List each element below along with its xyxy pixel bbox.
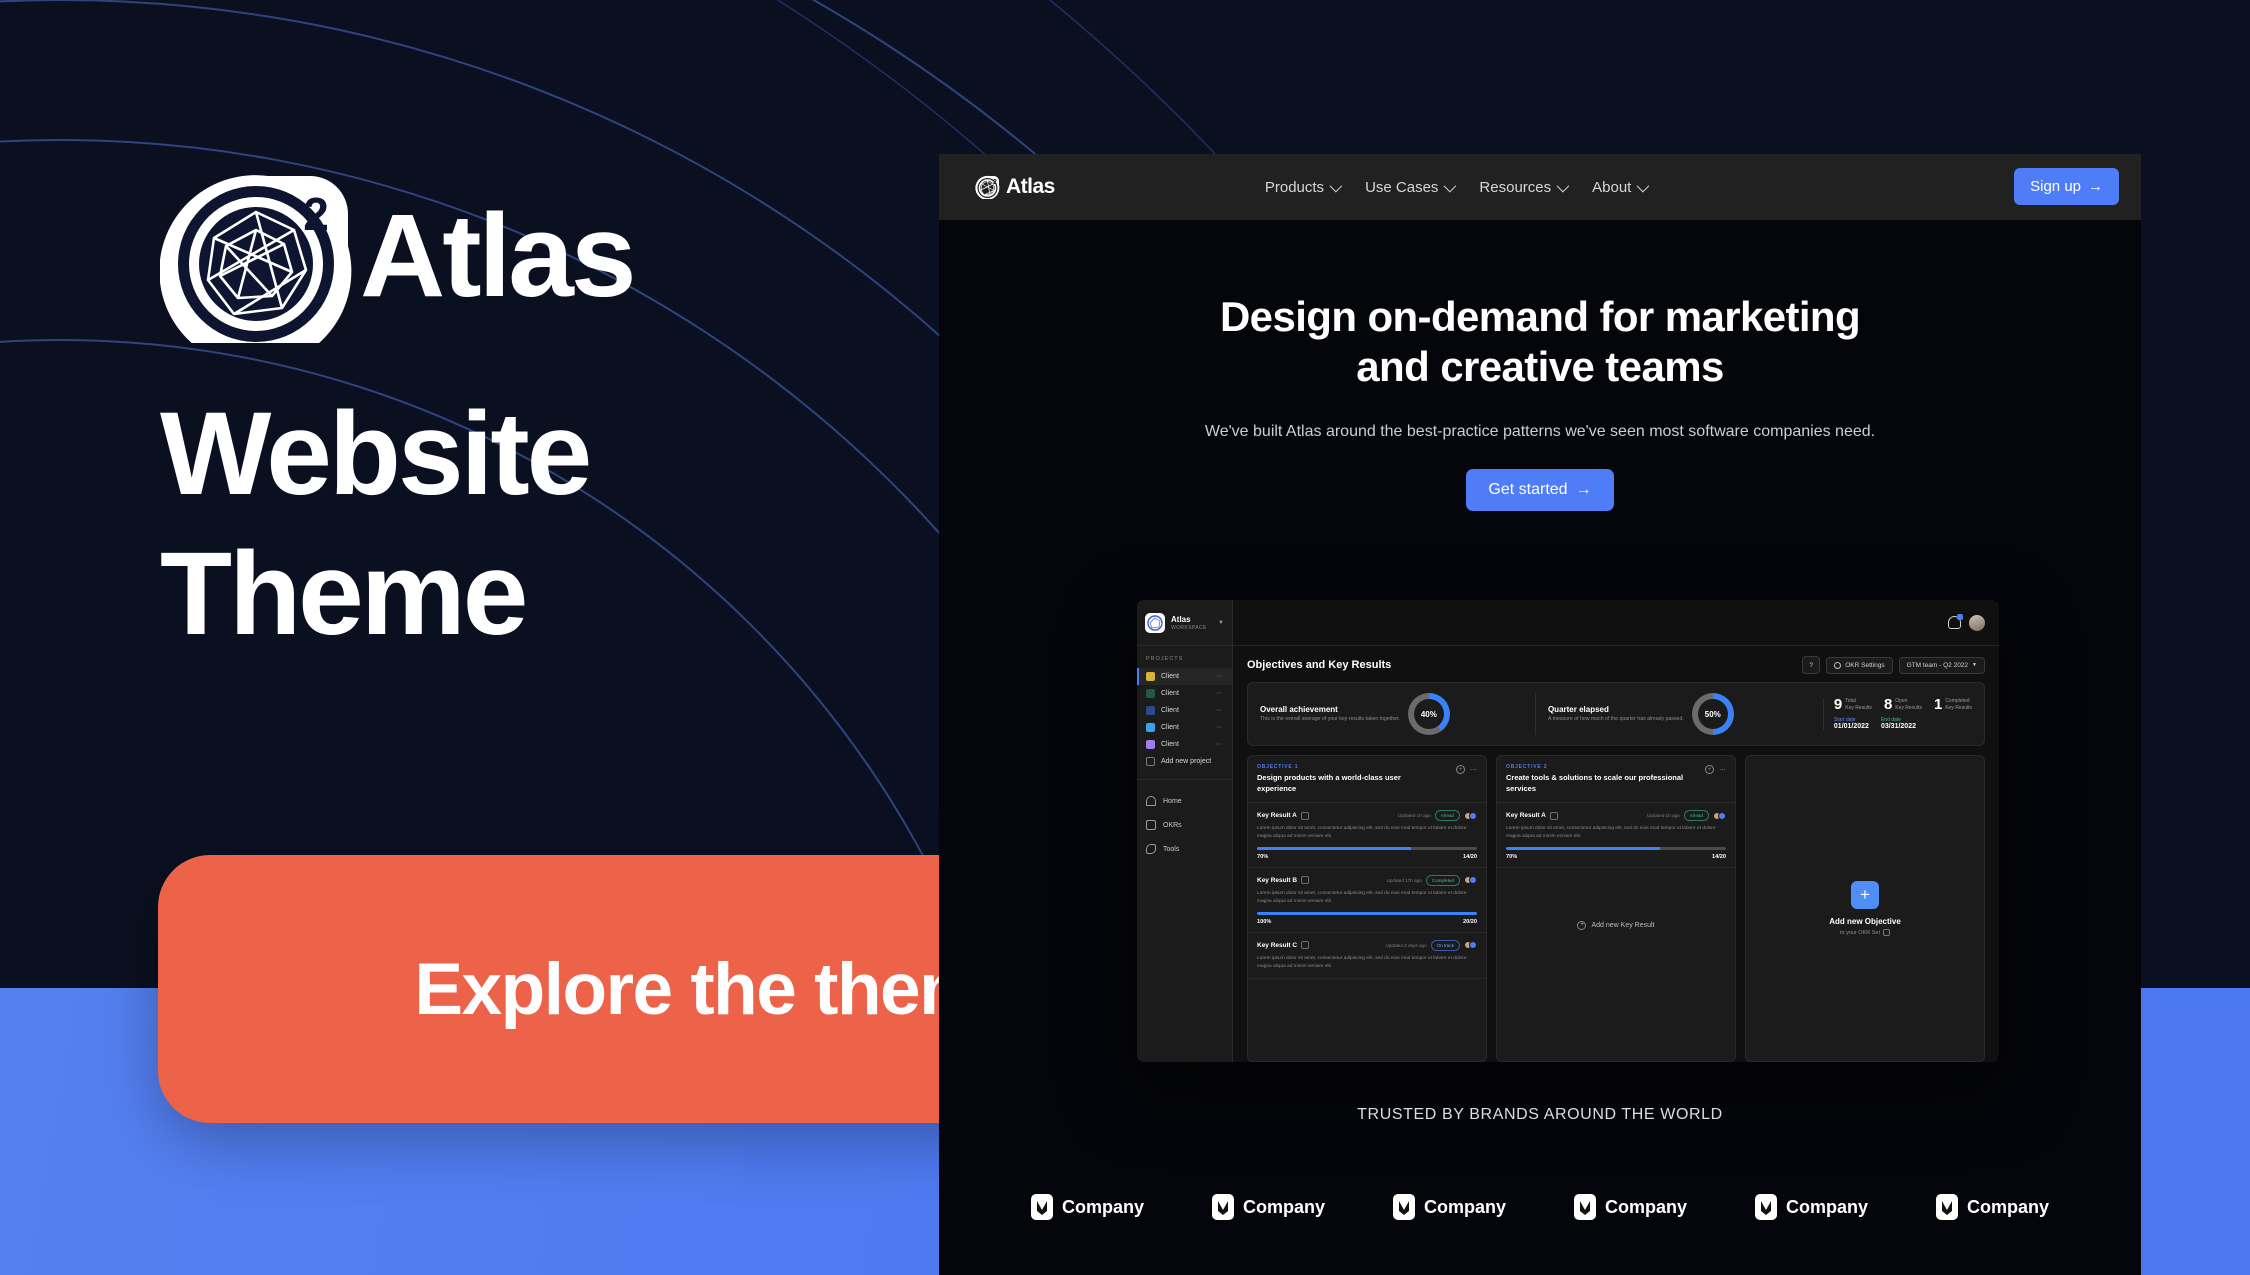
add-objective-title: Add new Objective (1829, 917, 1901, 926)
progress-ratio: 14/20 (1463, 854, 1477, 860)
key-result-row[interactable]: Key Result A Updated 1h ago Ahead Lorem … (1248, 803, 1486, 868)
sign-up-button[interactable]: Sign up → (2014, 168, 2119, 205)
home-icon (1146, 796, 1156, 806)
company-logo-3: Company (1393, 1194, 1506, 1220)
headline-line-1: Website (160, 395, 589, 513)
company-label: Company (1967, 1197, 2049, 1218)
start-date: Start date 01/01/2022 (1834, 717, 1869, 730)
objective-header: OBJECTIVE 2 Create tools & solutions to … (1497, 756, 1735, 803)
okr-toolbar: ? OKR Settings GTM team - Q2 2022 ▼ (1802, 656, 1985, 674)
progress-ratio: 14/20 (1712, 854, 1726, 860)
stat-description: A measure of how much of the quarter has… (1548, 716, 1684, 724)
company-logo-1: Company (1031, 1194, 1144, 1220)
nav-label: OKRs (1163, 822, 1182, 829)
add-objective-sub-label: to your OKR Set (1840, 930, 1880, 936)
donut-value: 50% (1698, 699, 1728, 729)
avatar-group (1713, 812, 1726, 820)
avatar-group (1464, 876, 1477, 884)
more-options-icon[interactable]: ⋯ (1216, 741, 1223, 748)
plus-icon (1146, 757, 1155, 766)
quarter-donut-chart: 50% (1692, 693, 1734, 735)
okr-page-title: Objectives and Key Results (1247, 659, 1391, 671)
stat-overall-achievement: Overall achievement This is the overall … (1260, 693, 1525, 735)
sidebar-item-client-1[interactable]: Client ⋯ (1137, 668, 1232, 685)
nav-label: Resources (1479, 179, 1551, 196)
add-icon: + (1577, 921, 1586, 930)
more-options-icon[interactable]: ⋯ (1216, 707, 1223, 714)
more-options-icon[interactable]: ⋯ (1470, 766, 1477, 774)
headline-line-2: Theme (160, 535, 589, 653)
nav-label: Products (1265, 179, 1324, 196)
app-main: Objectives and Key Results ? OKR Setting… (1233, 600, 1999, 1062)
project-label: Client (1161, 673, 1179, 680)
promo-left-column: 2 Atlas Website Theme Explore the theme (0, 0, 960, 1275)
kpi-value: 8 (1884, 698, 1892, 712)
chevron-down-icon[interactable]: ▼ (1218, 620, 1224, 626)
sidebar-item-home[interactable]: Home (1137, 789, 1232, 813)
chevron-down-icon: ▼ (1972, 662, 1977, 668)
avatar-group (1464, 812, 1477, 820)
key-result-text: Lorem ipsum dolor sit amet, consectetur … (1506, 825, 1726, 841)
promo-canvas: 2 Atlas Website Theme Explore the theme (0, 0, 2250, 1275)
company-label: Company (1062, 1197, 1144, 1218)
end-date: End date 03/31/2022 (1881, 717, 1916, 730)
kpi-value: 9 (1834, 698, 1842, 712)
key-result-row[interactable]: Key Result A Updated 1h ago Ahead Lorem … (1497, 803, 1735, 868)
status-badge: On track (1431, 940, 1460, 951)
chevron-down-icon (1637, 179, 1650, 192)
objective-card-1: OBJECTIVE 1 Design products with a world… (1247, 755, 1487, 1062)
atlas-polyhedron-logo-icon: 2 (160, 168, 360, 343)
objective-tag: OBJECTIVE 1 (1257, 764, 1477, 770)
project-color-icon (1146, 689, 1155, 698)
add-objective-subtitle: to your OKR Set (1840, 929, 1890, 936)
add-new-key-result-button[interactable]: + Add new Key Result (1497, 868, 1735, 983)
key-result-updated: Updated 1h ago (1398, 813, 1431, 818)
sidebar-item-client-4[interactable]: Client ⋯ (1137, 719, 1232, 736)
key-result-name: Key Result A (1506, 812, 1546, 819)
sidebar-item-client-5[interactable]: Client ⋯ (1137, 736, 1232, 753)
okr-grid-icon (1146, 820, 1156, 830)
get-started-label: Get started (1488, 481, 1567, 499)
nav-item-use-cases[interactable]: Use Cases (1365, 179, 1453, 196)
kpi-total: 9 TotalKey Results (1834, 698, 1872, 712)
stat-title: Quarter elapsed (1548, 705, 1684, 714)
kpi-label: OpenKey Results (1895, 698, 1922, 712)
site-nav-menu: Products Use Cases Resources About (1265, 179, 1646, 196)
nav-label: Tools (1163, 846, 1179, 853)
avatar-group (1464, 941, 1477, 949)
sidebar-item-okrs[interactable]: OKRs (1137, 813, 1232, 837)
objective-card-2: OBJECTIVE 2 Create tools & solutions to … (1496, 755, 1736, 1062)
plus-glyph: + (1860, 885, 1870, 905)
progress-bar (1506, 847, 1726, 850)
hero-title-line-2: and creative teams (1356, 343, 1723, 390)
company-logo-row: Company Company Company Company Company … (939, 1194, 2141, 1220)
status-badge: Ahead (1435, 810, 1460, 821)
website-preview: 2 Atlas Products Use Cases (939, 154, 2141, 1275)
okr-settings-button[interactable]: OKR Settings (1826, 657, 1892, 674)
status-badge: Completed (1426, 875, 1460, 886)
project-label: Client (1161, 707, 1179, 714)
company-mark-icon (1755, 1194, 1777, 1220)
key-result-name: Key Result B (1257, 877, 1297, 884)
okr-settings-label: OKR Settings (1845, 662, 1884, 669)
nav-item-products[interactable]: Products (1265, 179, 1339, 196)
workspace-logo-icon (1145, 613, 1165, 633)
progress-percent: 70% (1257, 854, 1268, 860)
more-options-icon[interactable]: ⋯ (1216, 724, 1223, 731)
stat-quarter-elapsed: Quarter elapsed A measure of how much of… (1535, 693, 1813, 735)
sign-up-label: Sign up (2030, 178, 2081, 195)
chevron-down-icon (1557, 179, 1570, 192)
svg-text:2: 2 (303, 188, 329, 240)
company-mark-icon (1031, 1194, 1053, 1220)
project-color-icon (1146, 672, 1155, 681)
key-result-row[interactable]: Key Result C Updated 3 days ago On track… (1248, 933, 1486, 979)
chevron-down-icon (1330, 179, 1343, 192)
objective-name: Create tools & solutions to scale our pr… (1506, 773, 1686, 794)
sidebar-item-client-2[interactable]: Client ⋯ (1137, 685, 1232, 702)
company-logo-4: Company (1574, 1194, 1687, 1220)
company-logo-5: Company (1755, 1194, 1868, 1220)
team-period-selector[interactable]: GTM team - Q2 2022 ▼ (1899, 657, 1985, 674)
workspace-switcher[interactable]: Atlas WORKSPACE ▼ (1137, 600, 1232, 646)
start-date-value: 01/01/2022 (1834, 723, 1869, 730)
more-options-icon[interactable]: ⋯ (1216, 673, 1223, 680)
hero-subtitle: We've built Atlas around the best-practi… (939, 423, 2141, 441)
add-icon[interactable]: + (1456, 765, 1465, 774)
add-key-result-label: Add new Key Result (1591, 922, 1654, 929)
site-logo[interactable]: 2 Atlas (975, 175, 1055, 199)
kpi-group: 9 TotalKey Results 8 OpenKey Results 1 C… (1823, 698, 1972, 730)
sidebar-divider (1137, 779, 1232, 780)
brand-wordmark: Atlas (360, 197, 634, 315)
objectives-row: OBJECTIVE 1 Design products with a world… (1233, 746, 1999, 1062)
nav-label: Use Cases (1365, 179, 1438, 196)
add-icon[interactable]: + (1705, 765, 1714, 774)
company-mark-icon (1393, 1194, 1415, 1220)
key-result-name: Key Result C (1257, 942, 1297, 949)
brand-lockup: 2 Atlas (160, 168, 634, 343)
okr-summary-bar: Overall achievement This is the overall … (1247, 682, 1985, 746)
project-color-icon (1146, 723, 1155, 732)
objective-header: OBJECTIVE 1 Design products with a world… (1248, 756, 1486, 803)
notification-bell-icon[interactable] (1948, 616, 1961, 629)
explore-theme-label: Explore the theme (414, 948, 1021, 1031)
progress-ratio: 20/20 (1463, 919, 1477, 925)
company-label: Company (1605, 1197, 1687, 1218)
hero-title: Design on-demand for marketing and creat… (939, 292, 2141, 391)
more-options-icon[interactable]: ⋯ (1216, 690, 1223, 697)
nav-label: About (1592, 179, 1631, 196)
add-project-label: Add new project (1161, 758, 1211, 765)
workspace-name: Atlas (1171, 615, 1207, 625)
status-badge: Ahead (1684, 810, 1709, 821)
company-label: Company (1243, 1197, 1325, 1218)
project-label: Client (1161, 741, 1179, 748)
add-new-objective-card[interactable]: + Add new Objective to your OKR Set (1745, 755, 1985, 1062)
company-label: Company (1786, 1197, 1868, 1218)
workspace-sublabel: WORKSPACE (1171, 625, 1207, 631)
key-result-updated: Updated 3 days ago (1386, 943, 1427, 948)
key-result-updated: Updated 1h ago (1647, 813, 1680, 818)
project-color-icon (1146, 740, 1155, 749)
project-label: Client (1161, 724, 1179, 731)
key-result-text: Lorem ipsum dolor sit amet, consectetur … (1257, 955, 1477, 971)
plus-icon[interactable]: + (1851, 881, 1879, 909)
key-result-updated: Updated 17h ago (1387, 878, 1422, 883)
company-mark-icon (1936, 1194, 1958, 1220)
kpi-label: CompletedKey Results (1945, 698, 1972, 712)
key-result-row[interactable]: Key Result B Updated 17h ago Completed L… (1248, 868, 1486, 933)
site-navbar: 2 Atlas Products Use Cases (939, 154, 2141, 220)
kpi-value: 1 (1934, 698, 1942, 712)
get-started-button[interactable]: Get started → (1466, 469, 1613, 511)
hero-title-line-1: Design on-demand for marketing (1220, 293, 1860, 340)
help-circle-icon[interactable]: ? (1802, 656, 1820, 674)
objective-tag: OBJECTIVE 2 (1506, 764, 1726, 770)
sidebar-item-client-3[interactable]: Client ⋯ (1137, 702, 1232, 719)
company-mark-icon (1574, 1194, 1596, 1220)
objective-name: Design products with a world-class user … (1257, 773, 1437, 794)
user-avatar[interactable] (1969, 615, 1985, 631)
project-label: Client (1161, 690, 1179, 697)
progress-bar (1257, 912, 1477, 915)
company-logo-2: Company (1212, 1194, 1325, 1220)
stat-title: Overall achievement (1260, 705, 1400, 714)
chevron-down-icon (1444, 179, 1457, 192)
stat-description: This is the overall average of your key … (1260, 716, 1400, 724)
progress-bar (1257, 847, 1477, 850)
promo-headline: Website Theme (160, 395, 589, 675)
team-period-label: GTM team - Q2 2022 (1907, 662, 1968, 669)
gear-icon (1834, 662, 1841, 669)
app-topbar (1233, 600, 1999, 646)
project-color-icon (1146, 706, 1155, 715)
end-date-value: 03/31/2022 (1881, 723, 1916, 730)
key-result-text: Lorem ipsum dolor sit amet, consectetur … (1257, 825, 1477, 841)
wrench-icon (1146, 844, 1156, 854)
app-sidebar: Atlas WORKSPACE ▼ PROJECTS Client ⋯ Clie… (1137, 600, 1233, 1062)
sidebar-section-projects: PROJECTS (1137, 646, 1232, 668)
nav-item-about[interactable]: About (1592, 179, 1646, 196)
edit-pencil-icon[interactable] (1301, 812, 1309, 820)
company-label: Company (1424, 1197, 1506, 1218)
app-screenshot: Atlas WORKSPACE ▼ PROJECTS Client ⋯ Clie… (1137, 600, 1999, 1062)
sidebar-item-tools[interactable]: Tools (1137, 837, 1232, 861)
donut-value: 40% (1414, 699, 1444, 729)
arrow-right-icon: → (2088, 178, 2103, 195)
hero-section: Design on-demand for marketing and creat… (939, 220, 2141, 511)
company-logo-6: Company (1936, 1194, 2049, 1220)
site-logo-text: Atlas (1006, 175, 1055, 199)
trusted-by-label: TRUSTED BY BRANDS AROUND THE WORLD (939, 1106, 2141, 1124)
add-new-project-button[interactable]: Add new project (1137, 753, 1232, 770)
achievement-donut-chart: 40% (1408, 693, 1450, 735)
okr-set-icon (1883, 929, 1890, 936)
atlas-logo-icon: 2 (975, 175, 1001, 199)
progress-percent: 70% (1506, 854, 1517, 860)
nav-label: Home (1163, 798, 1182, 805)
key-result-text: Lorem ipsum dolor sit amet, consectetur … (1257, 890, 1477, 906)
key-result-name: Key Result A (1257, 812, 1297, 819)
company-mark-icon (1212, 1194, 1234, 1220)
kpi-label: TotalKey Results (1845, 698, 1872, 712)
kpi-open: 8 OpenKey Results (1884, 698, 1922, 712)
edit-pencil-icon[interactable] (1301, 876, 1309, 884)
progress-percent: 100% (1257, 919, 1271, 925)
arrow-right-icon: → (1576, 481, 1592, 499)
nav-item-resources[interactable]: Resources (1479, 179, 1566, 196)
edit-pencil-icon[interactable] (1550, 812, 1558, 820)
kpi-completed: 1 CompletedKey Results (1934, 698, 1972, 712)
date-range: Start date 01/01/2022 End date 03/31/202… (1834, 717, 1972, 730)
edit-pencil-icon[interactable] (1301, 941, 1309, 949)
svg-text:2: 2 (993, 179, 997, 186)
okr-header: Objectives and Key Results ? OKR Setting… (1233, 646, 1999, 682)
more-options-icon[interactable]: ⋯ (1719, 766, 1726, 774)
